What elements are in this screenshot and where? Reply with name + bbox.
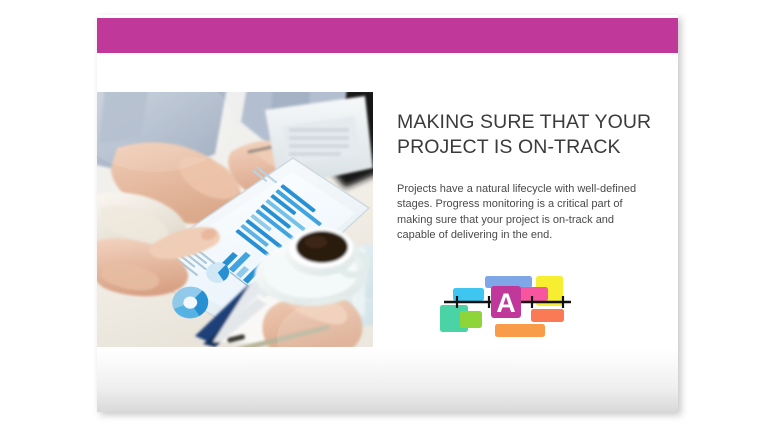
slide-photo xyxy=(97,92,373,347)
slide-header-band xyxy=(97,18,678,53)
gantt-square-lime xyxy=(460,311,482,328)
gantt-illustration: A xyxy=(435,267,580,345)
slide-canvas: MAKING SURE THAT YOUR PROJECT IS ON-TRAC… xyxy=(0,0,770,440)
slide-footer-gradient xyxy=(97,347,678,412)
photo-illustration xyxy=(97,92,373,347)
slide-body-text: Projects have a natural lifecycle with w… xyxy=(397,160,642,244)
presentation-slide: MAKING SURE THAT YOUR PROJECT IS ON-TRAC… xyxy=(97,15,678,412)
gantt-bar-salmon xyxy=(531,309,564,322)
gantt-letter-a: A xyxy=(496,288,516,318)
gantt-bar-pink xyxy=(519,287,548,301)
gantt-chart-graphic: A xyxy=(435,267,580,345)
gantt-bar-orange xyxy=(495,324,545,337)
slide-title: MAKING SURE THAT YOUR PROJECT IS ON-TRAC… xyxy=(397,110,655,160)
slide-text-column: MAKING SURE THAT YOUR PROJECT IS ON-TRAC… xyxy=(397,110,655,244)
